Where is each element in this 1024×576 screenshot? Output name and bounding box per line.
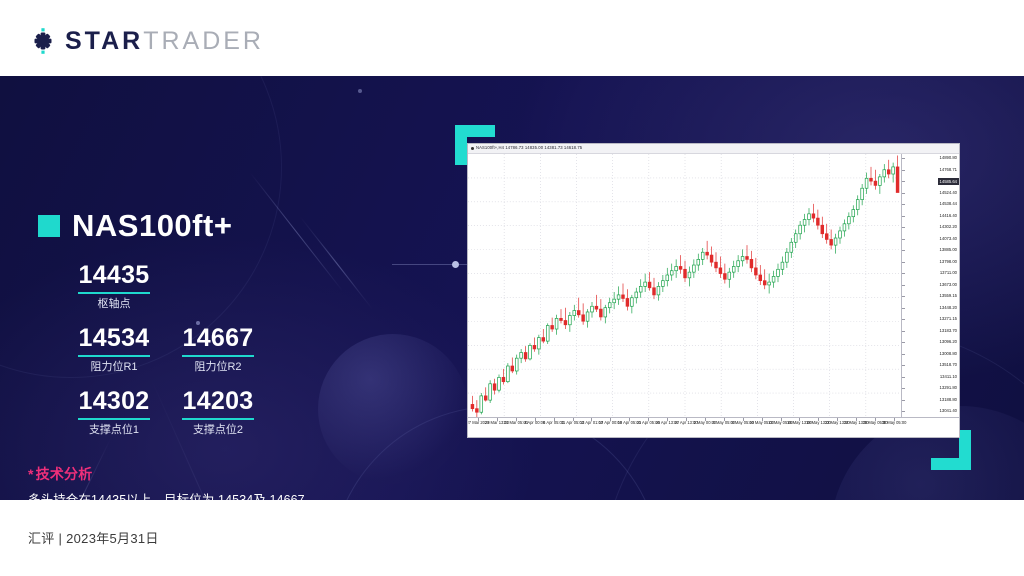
level-value: 14435 — [62, 262, 166, 289]
price-tick — [902, 365, 905, 366]
level-value: 14203 — [166, 388, 270, 415]
brand-name-bold: STAR — [65, 27, 143, 55]
price-tick-label: 13518.70 — [940, 363, 957, 367]
level-value: 14667 — [166, 325, 270, 352]
level-underline — [78, 292, 150, 294]
price-tick-label: 13798.00 — [940, 260, 957, 264]
page-title: NAS100ft+ — [72, 210, 232, 241]
price-tick — [902, 331, 905, 332]
chart-body: 14890.8014768.7114585.6414524.4014538.44… — [468, 154, 959, 417]
price-tick — [902, 158, 905, 159]
brand-logo[interactable]: STARTRADER — [28, 26, 264, 56]
price-tick-label: 13559.15 — [940, 294, 957, 298]
price-tick — [902, 411, 905, 412]
decor-planet — [318, 334, 468, 484]
footer-bar: 汇评 | 2023年5月31日 — [0, 500, 1024, 576]
price-tick-label: 13188.80 — [940, 398, 957, 402]
price-tick — [902, 273, 905, 274]
pivot-row-support: 14302 支撑点位1 14203 支撑点位2 — [38, 388, 318, 451]
level-resistance-2: 14667 阻力位R2 — [166, 325, 270, 374]
price-tick — [902, 308, 905, 309]
price-tick-label: 13885.00 — [940, 248, 957, 252]
price-tick — [902, 170, 905, 171]
star-burst-icon — [28, 26, 58, 56]
pivot-row-main: 14435 枢轴点 — [38, 262, 318, 325]
price-tick — [902, 354, 905, 355]
level-underline — [182, 418, 254, 420]
price-tick — [902, 193, 905, 194]
instrument-title-row: NAS100ft+ — [38, 210, 232, 241]
price-tick-label: 13291.80 — [940, 386, 957, 390]
price-tick — [902, 285, 905, 286]
level-underline — [78, 355, 150, 357]
time-tick-label: 30 May 05:00 — [882, 421, 907, 425]
chart-symbol-icon — [471, 147, 474, 150]
time-axis: 27 Mar 202329 Mar 13:0031 Mar 05:004 Apr… — [468, 417, 959, 438]
price-chart[interactable]: NAS100ft+,H4 14786.73 14835.00 14381.73 … — [467, 143, 960, 438]
level-pivot: 14435 枢轴点 — [62, 262, 166, 311]
price-tick-label: 13711.00 — [940, 271, 957, 275]
pivot-levels: 14435 枢轴点 14534 阻力位R1 14667 阻力位R2 — [38, 262, 318, 452]
price-tick-label: 13411.10 — [940, 375, 957, 379]
price-tick-label: 14538.44 — [940, 202, 957, 206]
price-tick-label: 14416.40 — [940, 214, 957, 218]
price-tick — [902, 388, 905, 389]
price-tick-label: 14768.71 — [940, 168, 957, 172]
level-support-2: 14203 支撑点位2 — [166, 388, 270, 437]
price-tick — [902, 262, 905, 263]
price-tick-label: 13673.00 — [940, 283, 957, 287]
price-tick — [902, 239, 905, 240]
level-label: 支撑点位2 — [166, 424, 270, 437]
level-value: 14302 — [62, 388, 166, 415]
bracket-bottom-right — [931, 458, 971, 470]
price-tick-label: 14890.80 — [940, 156, 957, 160]
candlestick-plot — [468, 154, 902, 417]
level-label: 枢轴点 — [62, 298, 166, 311]
level-label: 阻力位R1 — [62, 361, 166, 374]
asterisk-icon: * — [28, 466, 34, 482]
price-tick-label: 13041.40 — [940, 409, 957, 413]
analysis-body: 多头持仓在14435以上，目标位为 14534及 14667。 若低于14435… — [28, 490, 398, 500]
brand-wordmark: STARTRADER — [65, 29, 264, 54]
price-tick — [902, 377, 905, 378]
decor-dot — [358, 89, 362, 93]
analysis-heading-text: 技术分析 — [36, 466, 93, 482]
price-tick — [902, 250, 905, 251]
price-tick — [902, 319, 905, 320]
price-tick-label: 13448.20 — [940, 306, 957, 310]
bracket-top-left — [455, 125, 495, 137]
chart-header-bar: NAS100ft+,H4 14786.73 14835.00 14381.73 … — [468, 144, 959, 154]
square-bullet-icon — [38, 215, 60, 237]
level-resistance-1: 14534 阻力位R1 — [62, 325, 166, 374]
price-tick-label: 13271.15 — [940, 317, 957, 321]
header-bar: STARTRADER — [0, 0, 1024, 76]
level-underline — [182, 355, 254, 357]
level-label: 支撑点位1 — [62, 424, 166, 437]
level-label: 阻力位R2 — [166, 361, 270, 374]
level-underline — [78, 418, 150, 420]
price-tick — [902, 342, 905, 343]
price-axis: 14890.8014768.7114585.6414524.4014538.44… — [901, 154, 959, 417]
footer-text: 汇评 | 2023年5月31日 — [28, 528, 159, 547]
brand-name-light: TRADER — [143, 27, 264, 55]
level-support-1: 14302 支撑点位1 — [62, 388, 166, 437]
price-tick — [902, 400, 905, 401]
price-tick-label: 14524.40 — [940, 191, 957, 195]
analysis-line-1: 多头持仓在14435以上，目标位为 14534及 14667。 — [28, 490, 398, 500]
current-price-label: 14585.64 — [938, 178, 959, 185]
price-tick-label: 13183.70 — [940, 329, 957, 333]
price-tick — [902, 204, 905, 205]
poster-root: STARTRADER NAS100ft+ 144 — [0, 0, 1024, 576]
price-tick — [902, 227, 905, 228]
price-tick-label: 13096.20 — [940, 340, 957, 344]
technical-analysis-block: *技术分析 多头持仓在14435以上，目标位为 14534及 14667。 若低… — [28, 464, 398, 500]
time-tick-label: 4 Apr 00:00 — [524, 421, 545, 425]
candlestick-svg — [468, 154, 902, 417]
price-tick-label: 13008.80 — [940, 352, 957, 356]
pivot-row-resistance: 14534 阻力位R1 14667 阻力位R2 — [38, 325, 318, 388]
decor-node-dot — [452, 261, 459, 268]
price-tick-label: 14302.20 — [940, 225, 957, 229]
main-panel: NAS100ft+ 14435 枢轴点 14534 阻力位R1 14667 — [0, 76, 1024, 500]
chart-title: NAS100ft+,H4 14786.73 14835.00 14381.73 … — [476, 146, 582, 150]
price-tick — [902, 181, 905, 182]
price-tick — [902, 216, 905, 217]
price-tick — [902, 296, 905, 297]
level-value: 14534 — [62, 325, 166, 352]
analysis-heading: *技术分析 — [28, 464, 398, 484]
price-tick-label: 14073.40 — [940, 237, 957, 241]
